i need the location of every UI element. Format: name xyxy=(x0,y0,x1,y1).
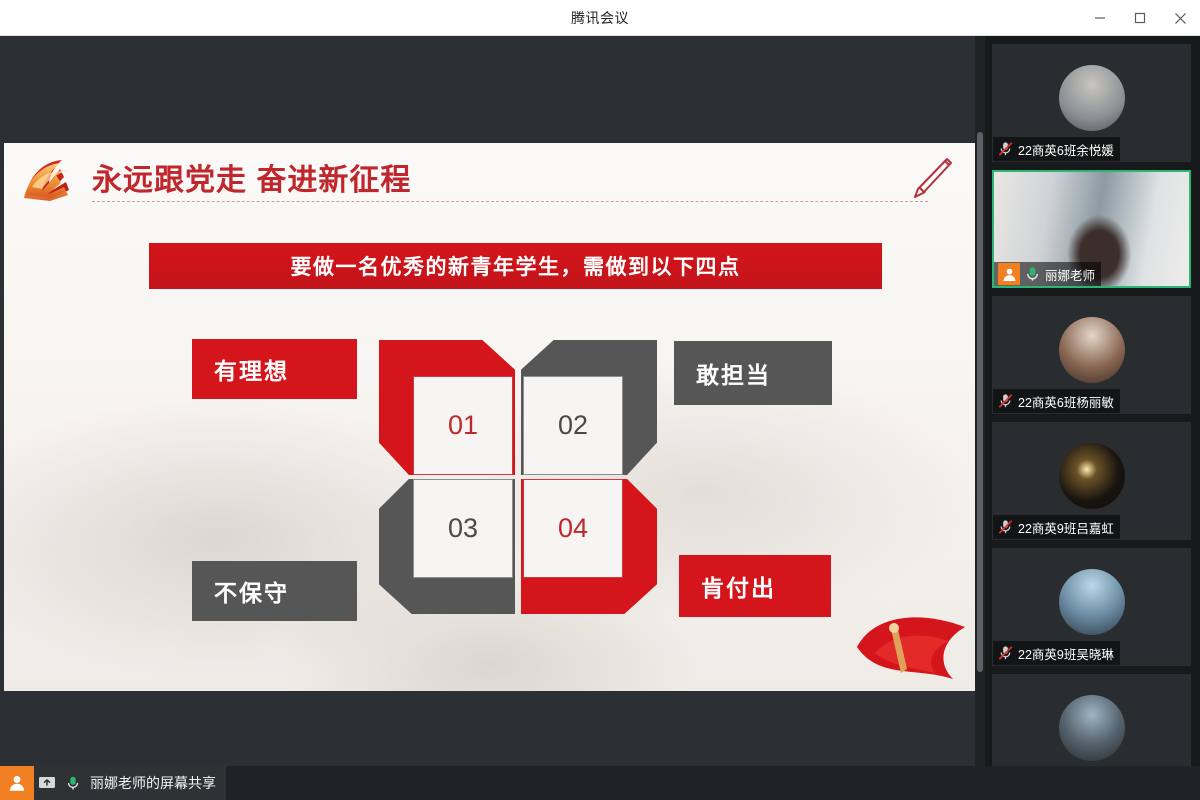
slide-banner: 要做一名优秀的新青年学生，需做到以下四点 xyxy=(149,243,882,289)
participant-tile[interactable]: 22商英9班吕嘉虹 xyxy=(992,422,1191,540)
participant-tile[interactable]: 22商英6班杨丽敏 xyxy=(992,296,1191,414)
mic-muted-icon xyxy=(997,644,1014,662)
quadrant-04-number: 04 xyxy=(523,479,623,578)
tag-bu-baoshou: 不保守 xyxy=(192,561,357,621)
screen-share-icon-wrap xyxy=(34,775,60,791)
host-person-icon xyxy=(1002,267,1017,282)
mic-icon-wrap xyxy=(60,774,86,792)
tag-you-lixiang: 有理想 xyxy=(192,339,357,399)
maximize-icon xyxy=(1134,12,1146,24)
slide-title: 永远跟党走 奋进新征程 xyxy=(92,155,411,199)
header-divider xyxy=(92,201,928,202)
participant-name: 丽娜老师 xyxy=(1045,265,1095,284)
title-bar: 腾讯会议 xyxy=(0,0,1200,36)
nameplate: 22商英9班吕嘉虹 xyxy=(993,515,1120,539)
minimize-icon xyxy=(1094,12,1106,24)
participant-tile-active[interactable]: 丽娜老师 xyxy=(992,170,1191,288)
party-emblem-icon xyxy=(20,155,82,201)
participant-name: 22商英6班杨丽敏 xyxy=(1018,392,1114,411)
mic-on-icon xyxy=(65,774,81,792)
window-title: 腾讯会议 xyxy=(571,8,629,28)
close-icon xyxy=(1174,12,1187,25)
stage-scrollbar[interactable] xyxy=(975,36,985,766)
status-bar: 丽娜老师的屏幕共享 xyxy=(0,766,1200,800)
avatar-image xyxy=(1059,65,1125,131)
participant-tile[interactable]: 22商英9班吴晓琳 xyxy=(992,548,1191,666)
presentation-slide: 永远跟党走 奋进新征程 要做一名优秀的新青年学生，需做到以下四点 有理想 敢担当… xyxy=(4,143,975,691)
nameplate: 丽娜老师 xyxy=(994,262,1101,286)
participant-panel[interactable]: 22商英6班余悦媛 丽娜老师 xyxy=(985,36,1200,766)
minimize-button[interactable] xyxy=(1080,0,1120,36)
avatar-image xyxy=(1059,569,1125,635)
quadrant-03-number: 03 xyxy=(413,479,513,578)
avatar xyxy=(1059,695,1125,761)
stage-scrollbar-thumb[interactable] xyxy=(977,132,983,672)
quadrant-diagram: 01 02 03 04 xyxy=(379,340,657,613)
banner-text: 要做一名优秀的新青年学生，需做到以下四点 xyxy=(291,251,741,281)
avatar xyxy=(1059,443,1125,509)
participant-name: 22商英9班吴晓琳 xyxy=(1018,644,1114,663)
screen-share-icon xyxy=(38,775,56,791)
nameplate: 22商英6班余悦媛 xyxy=(993,137,1120,161)
participant-name: 22商英6班余悦媛 xyxy=(1018,140,1114,159)
quadrant-02: 02 xyxy=(521,340,657,475)
mic-muted-icon xyxy=(997,392,1014,410)
nameplate: 22商英9班吴晓琳 xyxy=(993,641,1120,665)
quadrant-04: 04 xyxy=(521,479,657,614)
tencent-meeting-window: 腾讯会议 xyxy=(0,0,1200,800)
participant-name: 22商英9班吕嘉虹 xyxy=(1018,518,1114,537)
pen-icon xyxy=(907,153,955,203)
quadrant-01: 01 xyxy=(379,340,515,475)
avatar-image xyxy=(1059,317,1125,383)
quadrant-03: 03 xyxy=(379,479,515,614)
quadrant-02-number: 02 xyxy=(523,376,623,475)
avatar xyxy=(1059,65,1125,131)
mic-muted-icon xyxy=(997,518,1014,536)
screen-share-indicator[interactable]: 丽娜老师的屏幕共享 xyxy=(0,766,226,800)
close-button[interactable] xyxy=(1160,0,1200,36)
tag-gan-dandang: 敢担当 xyxy=(674,341,832,405)
host-badge xyxy=(0,766,34,800)
quadrant-01-number: 01 xyxy=(413,376,513,475)
avatar-image xyxy=(1059,695,1125,761)
avatar xyxy=(1059,569,1125,635)
tag-ken-fuchu: 肯付出 xyxy=(679,555,831,617)
slide-header: 永远跟党走 奋进新征程 xyxy=(4,143,975,211)
share-status-text: 丽娜老师的屏幕共享 xyxy=(86,773,226,793)
red-flag-icon xyxy=(845,607,975,687)
avatar xyxy=(1059,317,1125,383)
mic-muted-icon xyxy=(997,140,1014,158)
window-controls xyxy=(1080,0,1200,36)
avatar-image xyxy=(1059,443,1125,509)
host-badge xyxy=(998,263,1020,285)
shared-screen-stage[interactable]: 永远跟党走 奋进新征程 要做一名优秀的新青年学生，需做到以下四点 有理想 敢担当… xyxy=(0,36,975,766)
maximize-button[interactable] xyxy=(1120,0,1160,36)
nameplate: 22商英6班杨丽敏 xyxy=(993,389,1120,413)
participant-tile[interactable]: 22商英6班余悦媛 xyxy=(992,44,1191,162)
host-person-icon xyxy=(8,774,26,792)
mic-on-icon xyxy=(1024,265,1041,283)
